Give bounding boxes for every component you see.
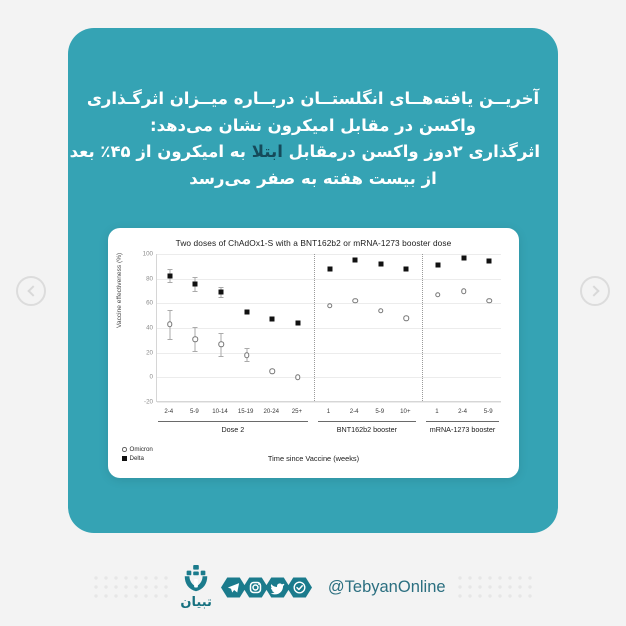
x-tick-label: 5-9: [484, 408, 493, 415]
gridline: [157, 377, 501, 378]
filled-square-marker-icon: [122, 456, 127, 461]
y-tick-label: 60: [146, 300, 153, 307]
gridline: [157, 254, 501, 255]
data-point-omicron: [270, 368, 276, 374]
data-point-delta: [487, 259, 492, 264]
headline-line-3-part-a: اثرگذاری ۲دوز واکسن درمقابل: [283, 142, 540, 161]
x-tick-label: 2-4: [164, 408, 173, 415]
gridline: [157, 279, 501, 280]
tebyan-logo-icon: [181, 564, 211, 594]
x-tick-label: 5-9: [190, 408, 199, 415]
error-bar-cap: [167, 339, 172, 340]
data-point-delta: [295, 321, 300, 326]
data-point-omicron: [167, 322, 173, 328]
dot-pattern-left: [92, 572, 170, 602]
tebyan-logo[interactable]: تبیان: [180, 564, 211, 610]
y-tick-label: 40: [146, 325, 153, 332]
data-point-omicron: [435, 292, 441, 298]
data-point-omicron: [327, 303, 333, 309]
error-bar-cap: [219, 287, 224, 288]
headline-highlight: ابتلا: [252, 142, 283, 161]
group-rule: [158, 421, 308, 422]
error-bar-cap: [167, 282, 172, 283]
data-point-omicron: [461, 288, 467, 294]
data-point-delta: [167, 274, 172, 279]
data-point-omicron: [378, 308, 384, 314]
chevron-left-icon: [27, 285, 38, 296]
open-circle-marker-icon: [122, 447, 127, 452]
carousel-next-button[interactable]: [580, 276, 610, 306]
legend-label-delta: Delta: [130, 455, 144, 462]
tebyan-wordmark: تبیان: [180, 595, 211, 610]
gridline: [157, 402, 501, 403]
group-label: BNT162b2 booster: [316, 425, 418, 434]
error-bar-cap: [244, 361, 249, 362]
legend-item-omicron: Omicron: [122, 446, 153, 453]
data-point-omicron: [486, 298, 492, 304]
data-point-delta: [378, 261, 383, 266]
check-shield-icon[interactable]: [287, 575, 312, 600]
legend-item-delta: Delta: [122, 455, 153, 462]
x-tick-label: 1: [327, 408, 330, 415]
data-point-delta: [193, 281, 198, 286]
social-links: [224, 575, 312, 600]
social-handle[interactable]: @TebyanOnline: [328, 578, 446, 597]
chart-legend: Omicron Delta: [122, 446, 153, 464]
data-point-delta: [219, 290, 224, 295]
y-tick-label: 0: [150, 374, 153, 381]
headline-line-2: واکسن در مقابل امیکرون نشان می‌دهد:: [86, 113, 540, 140]
teal-content-card: آخریــن یافته‌هــای انگلستــان دربــاره …: [68, 28, 558, 533]
error-bar-cap: [193, 327, 198, 328]
y-tick-label: 20: [146, 349, 153, 356]
chart-title: Two doses of ChAdOx1-S with a BNT162b2 o…: [108, 238, 519, 248]
x-axis-ticks: 2-45-910-1415-1920-2425+12-45-910+12-45-…: [156, 408, 501, 420]
data-point-omicron: [244, 352, 250, 358]
data-point-omicron: [193, 336, 199, 342]
error-bar-cap: [193, 291, 198, 292]
x-tick-label: 10-14: [212, 408, 228, 415]
group-label: mRNA-1273 booster: [424, 425, 501, 434]
group-rule: [318, 421, 416, 422]
footer: تبیان @TebyanOnline: [0, 548, 626, 626]
error-bar-cap: [219, 356, 224, 357]
data-point-delta: [270, 317, 275, 322]
data-point-omicron: [218, 341, 224, 347]
panel-separator: [422, 254, 423, 401]
group-label: Dose 2: [156, 425, 310, 434]
infographic-root: آخریــن یافته‌هــای انگلستــان دربــاره …: [0, 0, 626, 626]
y-tick-label: 100: [143, 251, 153, 258]
data-point-delta: [461, 255, 466, 260]
x-tick-label: 15-19: [238, 408, 254, 415]
y-axis-label: Vaccine effectiveness (%): [116, 253, 123, 328]
chart-card: Two doses of ChAdOx1-S with a BNT162b2 o…: [108, 228, 519, 478]
error-bar-cap: [167, 269, 172, 270]
x-axis-groups: Dose 2BNT162b2 boostermRNA-1273 booster: [156, 421, 501, 447]
error-bar-cap: [193, 277, 198, 278]
chevron-right-icon: [588, 285, 599, 296]
headline-line-1: آخریــن یافته‌هــای انگلستــان دربــاره …: [86, 86, 540, 113]
gridline: [157, 328, 501, 329]
y-tick-label: -20: [144, 399, 153, 406]
x-tick-label: 25+: [292, 408, 302, 415]
x-tick-label: 2-4: [458, 408, 467, 415]
x-tick-label: 2-4: [350, 408, 359, 415]
data-point-delta: [353, 258, 358, 263]
headline-line-4: از بیست هفته به صفر می‌رسد: [86, 166, 540, 193]
x-tick-label: 20-24: [263, 408, 279, 415]
error-bar-cap: [219, 297, 224, 298]
group-rule: [426, 421, 499, 422]
data-point-delta: [404, 266, 409, 271]
headline: آخریــن یافته‌هــای انگلستــان دربــاره …: [68, 86, 558, 193]
carousel-prev-button[interactable]: [16, 276, 46, 306]
error-bar-cap: [193, 351, 198, 352]
error-bar-cap: [167, 310, 172, 311]
data-point-delta: [327, 266, 332, 271]
legend-label-omicron: Omicron: [130, 446, 153, 453]
error-bar-cap: [244, 348, 249, 349]
x-tick-label: 10+: [400, 408, 410, 415]
headline-line-3: اثرگذاری ۲دوز واکسن درمقابل ابتلا به امی…: [86, 139, 540, 166]
x-tick-label: 1: [435, 408, 438, 415]
error-bar-cap: [219, 333, 224, 334]
headline-line-3-part-b: به امیکرون از ۴۵٪ بعد: [70, 142, 252, 161]
data-point-omicron: [295, 375, 301, 381]
x-axis-label: Time since Vaccine (weeks): [108, 454, 519, 463]
gridline: [157, 353, 501, 354]
data-point-omicron: [352, 298, 358, 304]
dot-pattern-right: [456, 572, 534, 602]
data-point-omicron: [404, 315, 410, 321]
plot-area: 100806040200-20: [156, 254, 501, 402]
y-tick-label: 80: [146, 275, 153, 282]
data-point-delta: [244, 309, 249, 314]
data-point-delta: [435, 263, 440, 268]
x-tick-label: 5-9: [375, 408, 384, 415]
panel-separator: [314, 254, 315, 401]
